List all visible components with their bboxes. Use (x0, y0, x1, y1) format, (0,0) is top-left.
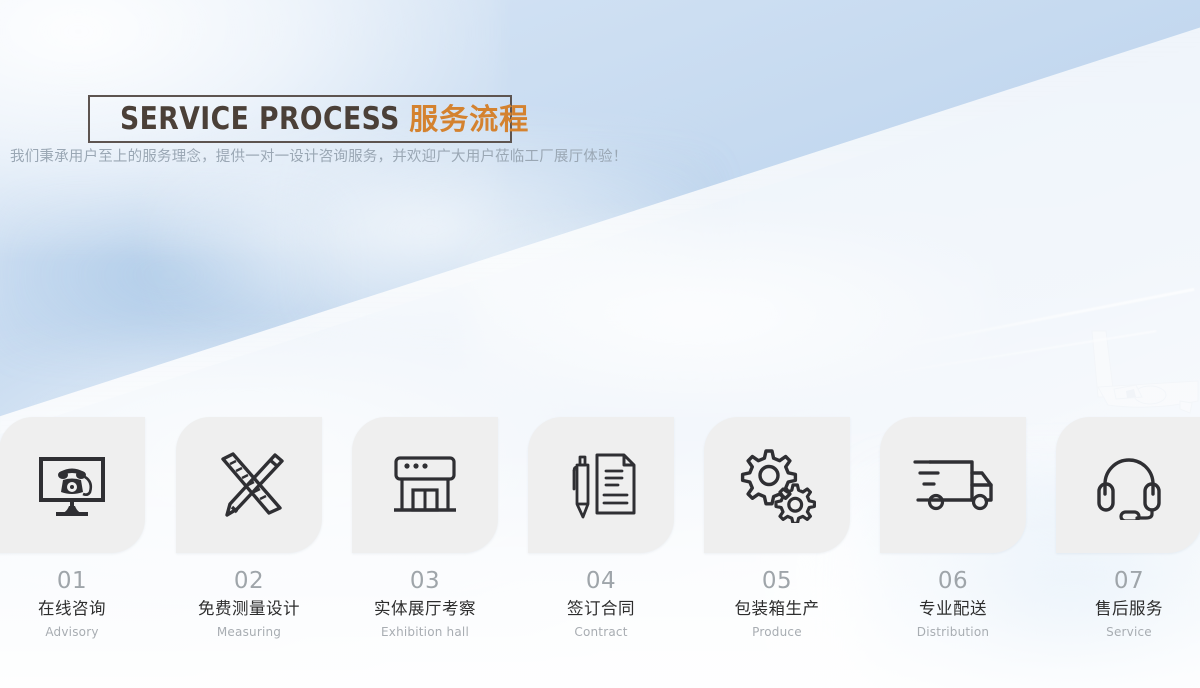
step-label: 06 专业配送 Distribution (880, 566, 1026, 642)
step-subtitle: Exhibition hall (352, 622, 498, 642)
step-label-row: 01 在线咨询 Advisory 02 免费测量设计 Measuring 03 … (0, 566, 1200, 656)
pen-document-icon (564, 449, 638, 521)
headset-icon (1091, 450, 1167, 520)
step-number: 04 (528, 566, 674, 596)
step-card[interactable] (0, 417, 145, 553)
title-english: SERVICE PROCESS (120, 104, 400, 135)
step-card[interactable] (528, 417, 674, 553)
storefront-icon (387, 452, 463, 518)
step-label: 04 签订合同 Contract (528, 566, 674, 642)
step-subtitle: Measuring (176, 622, 322, 642)
step-label: 02 免费测量设计 Measuring (176, 566, 322, 642)
service-process-banner: SERVICE PROCESS 服务流程 我们秉承用户至上的服务理念，提供一对一… (0, 0, 1200, 688)
page-title: SERVICE PROCESS 服务流程 (120, 98, 529, 140)
gears-icon (737, 447, 817, 523)
ruler-pencil-icon (211, 450, 287, 520)
step-label: 05 包装箱生产 Produce (704, 566, 850, 642)
step-title: 专业配送 (880, 596, 1026, 622)
monitor-phone-icon (33, 450, 111, 520)
step-card[interactable] (176, 417, 322, 553)
step-number: 05 (704, 566, 850, 596)
step-subtitle: Advisory (0, 622, 145, 642)
step-card[interactable] (1056, 417, 1200, 553)
step-card[interactable] (704, 417, 850, 553)
step-title: 免费测量设计 (176, 596, 322, 622)
step-number: 03 (352, 566, 498, 596)
step-card[interactable] (880, 417, 1026, 553)
step-subtitle: Service (1056, 622, 1200, 642)
subtitle-text: 我们秉承用户至上的服务理念，提供一对一设计咨询服务，并欢迎广大用户莅临工厂展厅体… (10, 145, 627, 166)
step-number: 07 (1056, 566, 1200, 596)
step-number: 01 (0, 566, 145, 596)
step-subtitle: Produce (704, 622, 850, 642)
step-title: 在线咨询 (0, 596, 145, 622)
step-subtitle: Contract (528, 622, 674, 642)
step-title: 实体展厅考察 (352, 596, 498, 622)
title-chinese: 服务流程 (409, 105, 529, 134)
step-number: 02 (176, 566, 322, 596)
step-card-row (0, 417, 1200, 553)
step-title: 签订合同 (528, 596, 674, 622)
step-title: 售后服务 (1056, 596, 1200, 622)
step-label: 01 在线咨询 Advisory (0, 566, 145, 642)
step-subtitle: Distribution (880, 622, 1026, 642)
step-label: 03 实体展厅考察 Exhibition hall (352, 566, 498, 642)
step-title: 包装箱生产 (704, 596, 850, 622)
step-number: 06 (880, 566, 1026, 596)
step-card[interactable] (352, 417, 498, 553)
step-label: 07 售后服务 Service (1056, 566, 1200, 642)
delivery-truck-icon (910, 454, 996, 516)
